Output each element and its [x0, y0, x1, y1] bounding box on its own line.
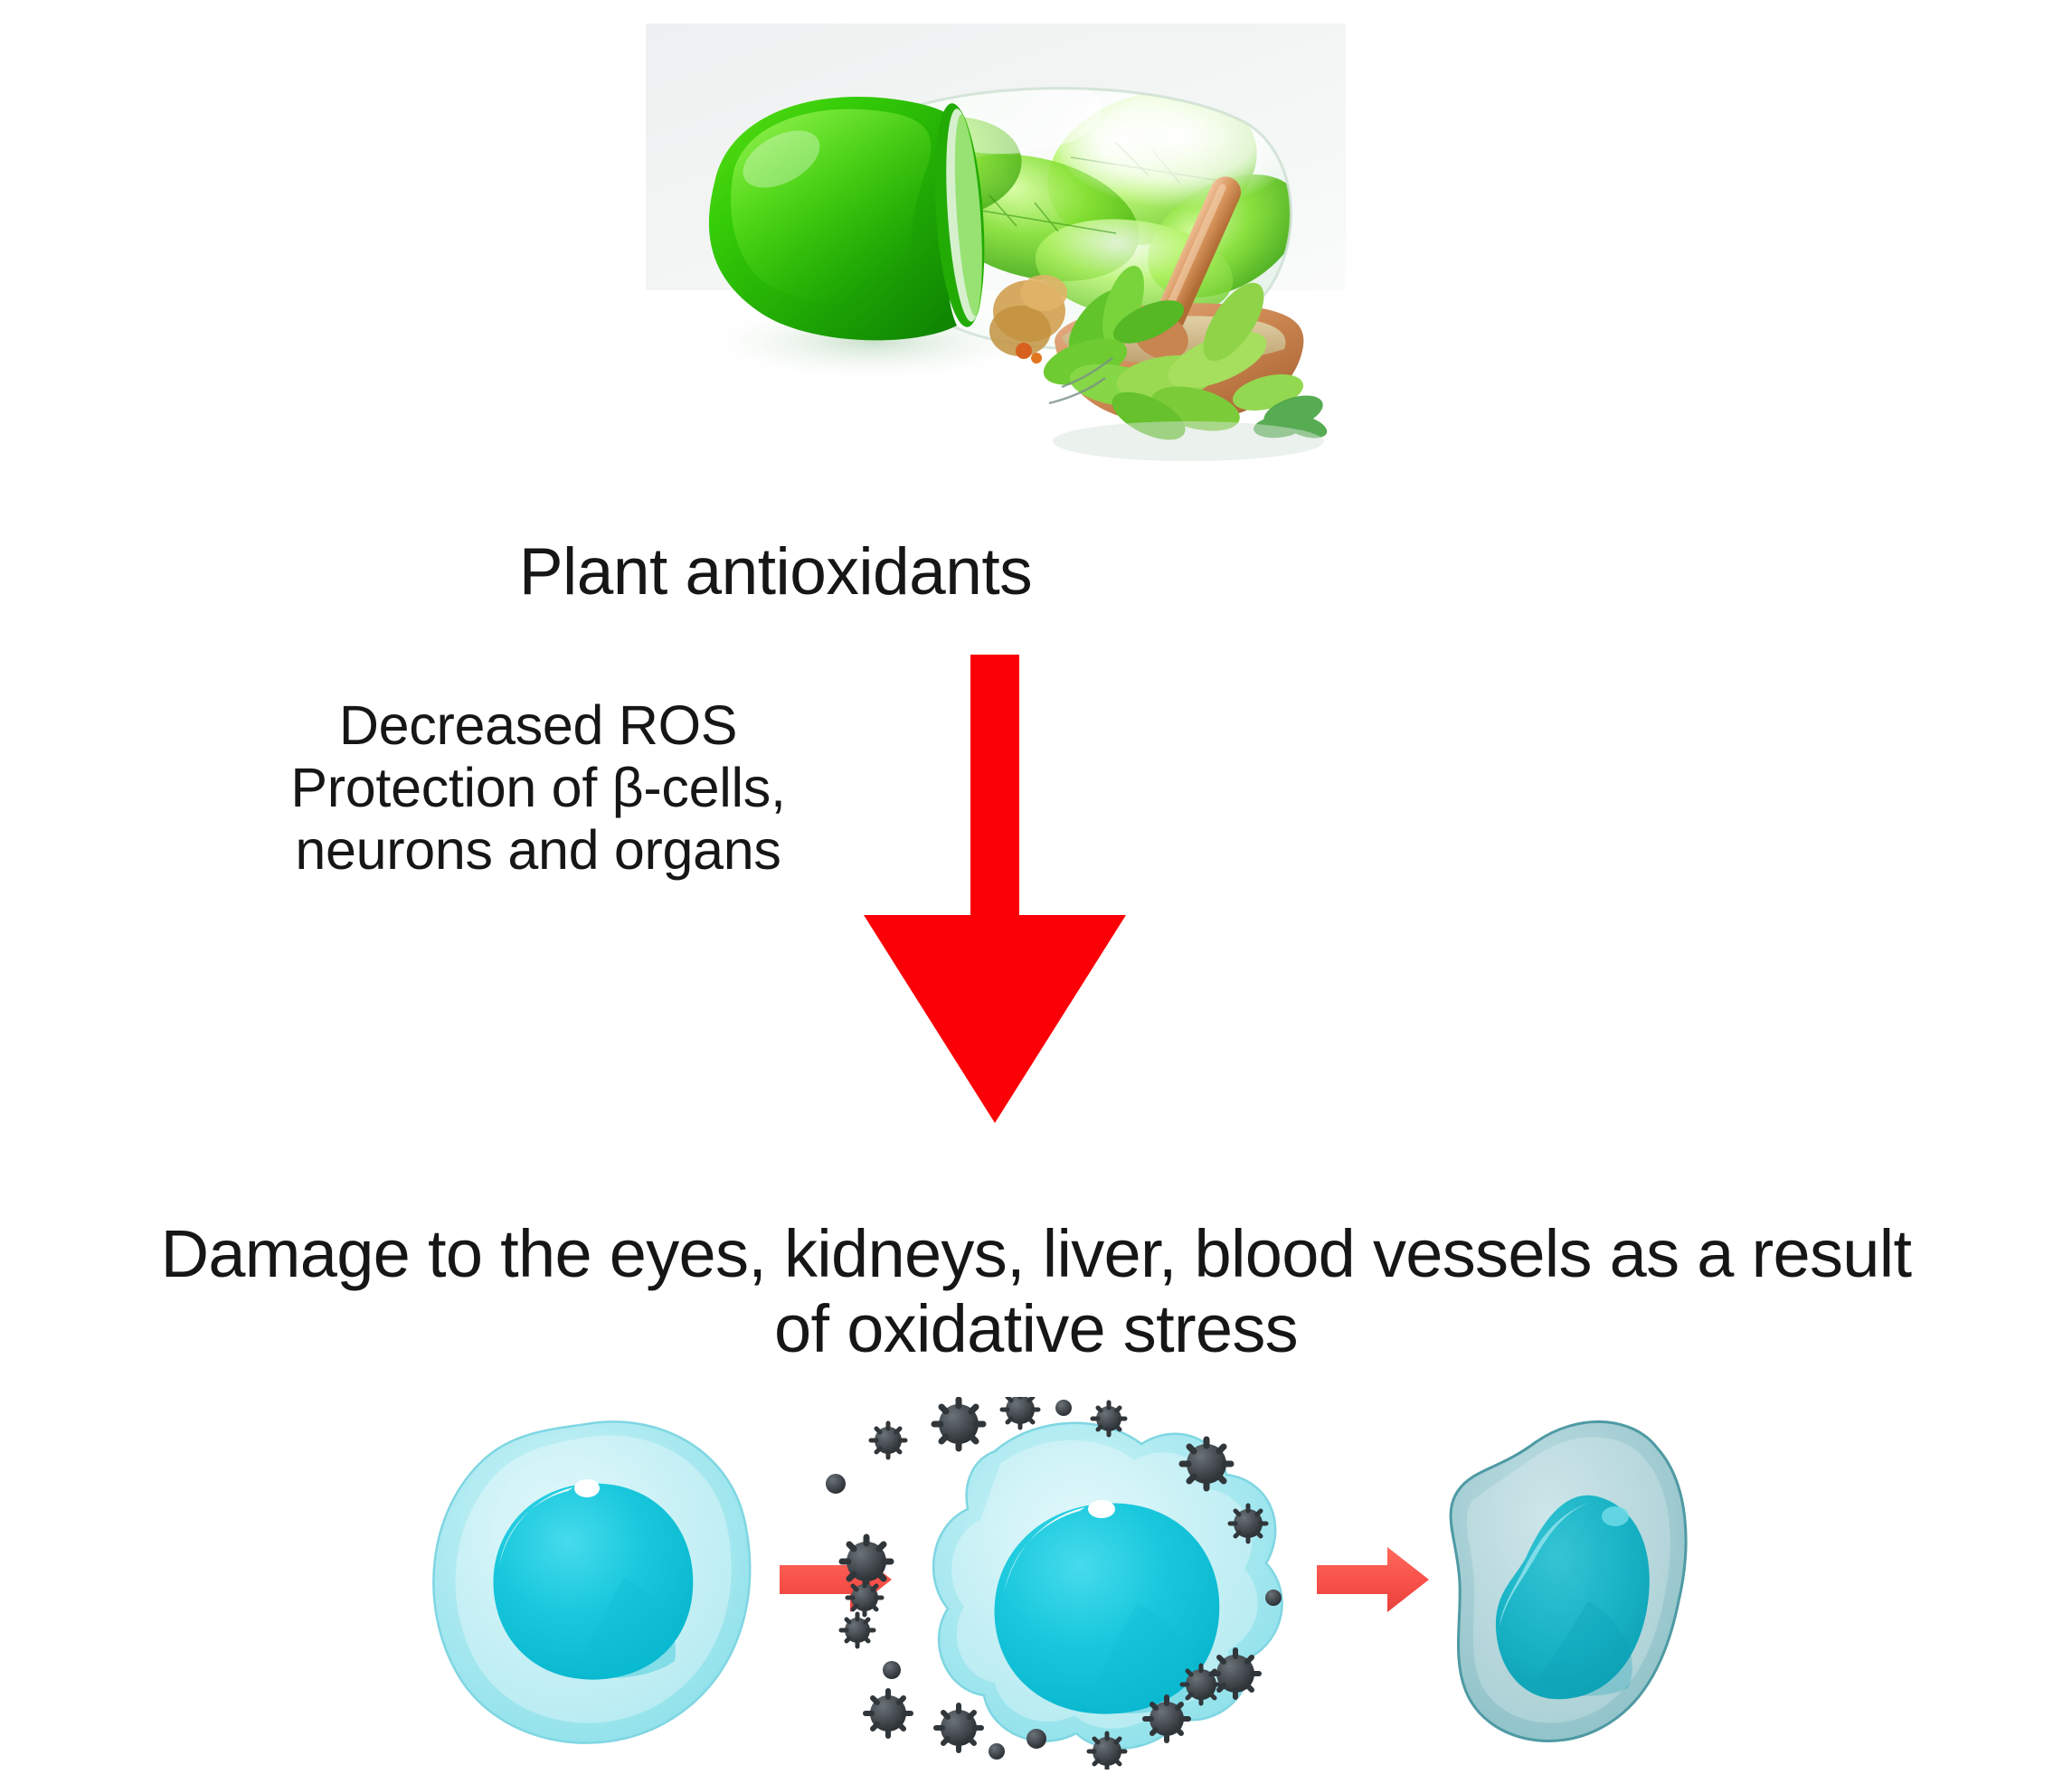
healthy-cell [433, 1421, 750, 1742]
stage-arrow-2 [1317, 1547, 1429, 1612]
cell-progression-illustration [362, 1397, 1718, 1769]
page-title-label: Plant antioxidants [519, 539, 1032, 605]
page-title: Plant antioxidants [0, 539, 2072, 605]
antioxidant-effects-note: Decreased ROS Protection of β-cells, neu… [109, 694, 968, 882]
note-line-1: Decreased ROS [109, 694, 968, 757]
cell-under-oxidative-stress [826, 1397, 1282, 1769]
damaged-cell [1451, 1421, 1686, 1741]
downward-red-arrow [850, 655, 1140, 1125]
hero-illustration [646, 24, 1346, 498]
damage-line-1: Damage to the eyes, kidneys, liver, bloo… [0, 1217, 2072, 1292]
oxidative-stress-cell-progression [362, 1397, 1718, 1769]
note-line-2: Protection of β-cells, [109, 757, 968, 819]
plant-antioxidants-image [646, 24, 1346, 498]
note-line-3: neurons and organs [109, 819, 968, 882]
damage-line-2: of oxidative stress [0, 1292, 2072, 1367]
oxidative-damage-caption: Damage to the eyes, kidneys, liver, bloo… [0, 1217, 2072, 1367]
downward-red-arrow-icon [850, 655, 1140, 1125]
